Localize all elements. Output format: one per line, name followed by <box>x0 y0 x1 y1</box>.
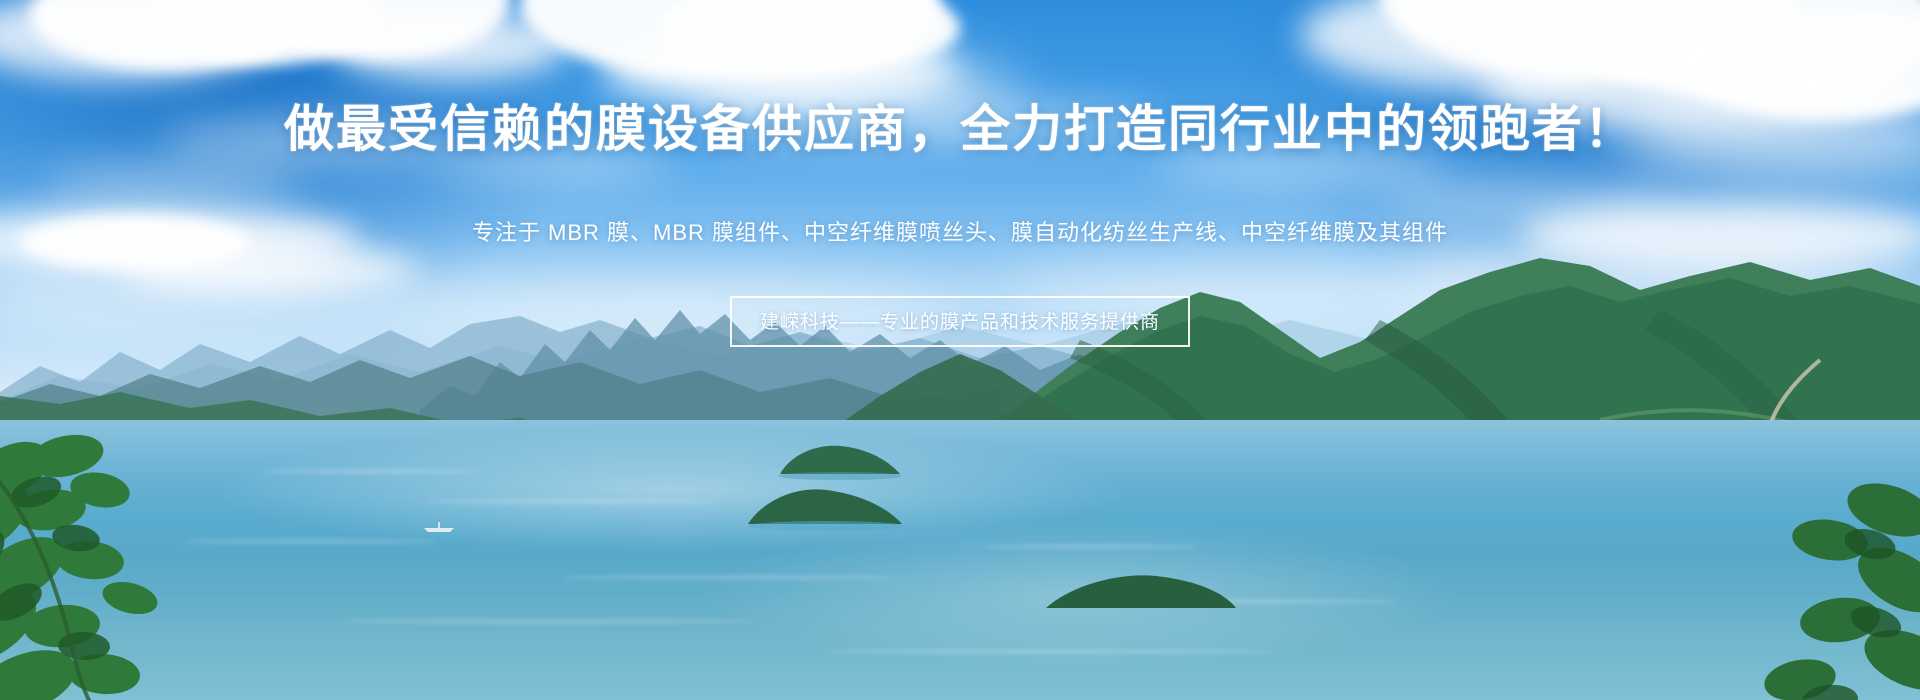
banner-tagline-wrap: 建嵘科技——专业的膜产品和技术服务提供商 <box>0 296 1920 347</box>
banner-headline: 做最受信赖的膜设备供应商，全力打造同行业中的领跑者！ <box>0 100 1920 158</box>
banner-subheadline: 专注于 MBR 膜、MBR 膜组件、中空纤维膜喷丝头、膜自动化纺丝生产线、中空纤… <box>0 218 1920 248</box>
hero-banner: 做最受信赖的膜设备供应商，全力打造同行业中的领跑者！ 专注于 MBR 膜、MBR… <box>0 0 1920 700</box>
text-overlay: 做最受信赖的膜设备供应商，全力打造同行业中的领跑者！ 专注于 MBR 膜、MBR… <box>0 0 1920 700</box>
banner-tagline-box: 建嵘科技——专业的膜产品和技术服务提供商 <box>730 296 1190 347</box>
